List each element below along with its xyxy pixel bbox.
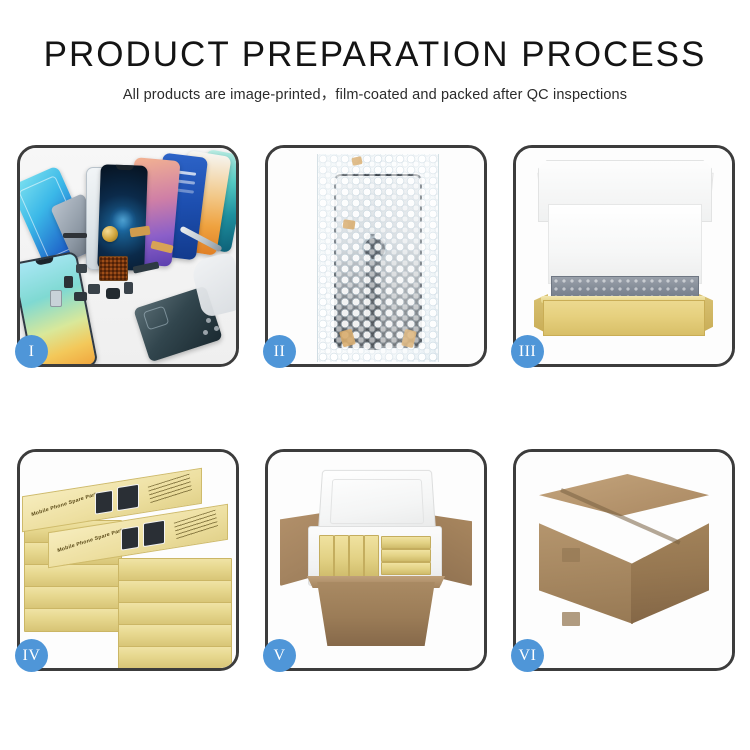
small-component-icon [124, 282, 133, 294]
box-phone-image-icon [143, 520, 165, 547]
screw-icon [214, 326, 219, 331]
box-label-text: Mobile Phone Spare Parts [57, 527, 126, 554]
box-phone-image-icon [117, 484, 139, 511]
process-step-panel-2: II [265, 145, 487, 367]
step-badge-4: IV [15, 639, 48, 672]
carton-front-icon [539, 504, 633, 624]
process-step-grid: I II [17, 145, 733, 665]
box-edge-icon [118, 580, 232, 604]
box-spec-lines-icon [148, 474, 192, 504]
screw-icon [206, 318, 211, 323]
screw-tray-icon [99, 256, 128, 281]
box-stack-icon: Mobile Phone Spare Parts Mobile Phone Sp… [22, 466, 234, 662]
page-title: PRODUCT PREPARATION PROCESS [0, 37, 750, 74]
step-badge-6: VI [511, 639, 544, 672]
sim-tray-icon [50, 290, 62, 307]
step-badge-1: I [15, 335, 48, 368]
carton-tape-icon [562, 612, 580, 626]
page-subtitle: All products are image-printed，film-coat… [0, 83, 750, 104]
plastic-sheen-icon [318, 154, 438, 362]
box-edge-icon [118, 624, 232, 648]
step-badge-2: II [263, 335, 296, 368]
kraft-box-front-icon [543, 300, 705, 336]
carton-tape-icon [562, 548, 580, 562]
process-step-panel-4: Mobile Phone Spare Parts Mobile Phone Sp… [17, 449, 239, 671]
box-phone-image-icon [121, 526, 139, 551]
carton-side-icon [631, 504, 709, 624]
box-edge-icon [118, 646, 232, 668]
speaker-coil-icon [102, 226, 118, 242]
packed-box-icon [334, 535, 349, 579]
step-2-image [268, 148, 484, 364]
box-phone-image-icon [95, 490, 113, 515]
bubble-wrap-bag-icon [317, 154, 439, 362]
step-1-image [20, 148, 236, 364]
step-badge-3: III [511, 335, 544, 368]
box-label-text: Mobile Phone Spare Parts [31, 491, 100, 518]
packed-box-icon [319, 535, 334, 579]
step-badge-5: V [263, 639, 296, 672]
product-preparation-infographic: PRODUCT PREPARATION PROCESS All products… [0, 0, 750, 750]
process-step-panel-5: V [265, 449, 487, 671]
white-foam-sheet-icon [548, 204, 702, 284]
phone-dark-icon [97, 164, 148, 271]
foam-box-lid-icon [318, 470, 437, 535]
carton-body-icon [312, 582, 440, 646]
screw-icon [203, 330, 208, 335]
phone-notch-icon [35, 257, 54, 265]
small-component-icon [88, 284, 100, 294]
small-component-icon [64, 276, 73, 288]
packed-box-icon [381, 536, 431, 549]
box-edge-icon [118, 558, 232, 582]
header: PRODUCT PREPARATION PROCESS All products… [0, 0, 750, 104]
step-3-image [516, 148, 732, 364]
process-step-panel-3: III [513, 145, 735, 367]
process-step-panel-6: VI [513, 449, 735, 671]
step-6-image [516, 452, 732, 668]
box-edge-icon [118, 602, 232, 626]
small-component-icon [76, 264, 87, 273]
battery-connector-icon [63, 233, 87, 238]
carton-top-icon [539, 474, 709, 536]
box-edge-icon [24, 586, 122, 610]
small-component-icon [74, 292, 87, 301]
packed-box-icon [381, 562, 431, 575]
packed-box-icon [381, 549, 431, 562]
step-4-image: Mobile Phone Spare Parts Mobile Phone Sp… [20, 452, 236, 668]
phone-notch-icon [115, 165, 133, 171]
box-edge-icon [24, 564, 122, 588]
small-component-icon [106, 288, 120, 299]
process-step-panel-1: I [17, 145, 239, 367]
step-5-image [268, 452, 484, 668]
packed-box-icon [364, 535, 379, 579]
packed-box-icon [349, 535, 364, 579]
box-spec-lines-icon [174, 510, 218, 540]
box-edge-icon [24, 608, 122, 632]
